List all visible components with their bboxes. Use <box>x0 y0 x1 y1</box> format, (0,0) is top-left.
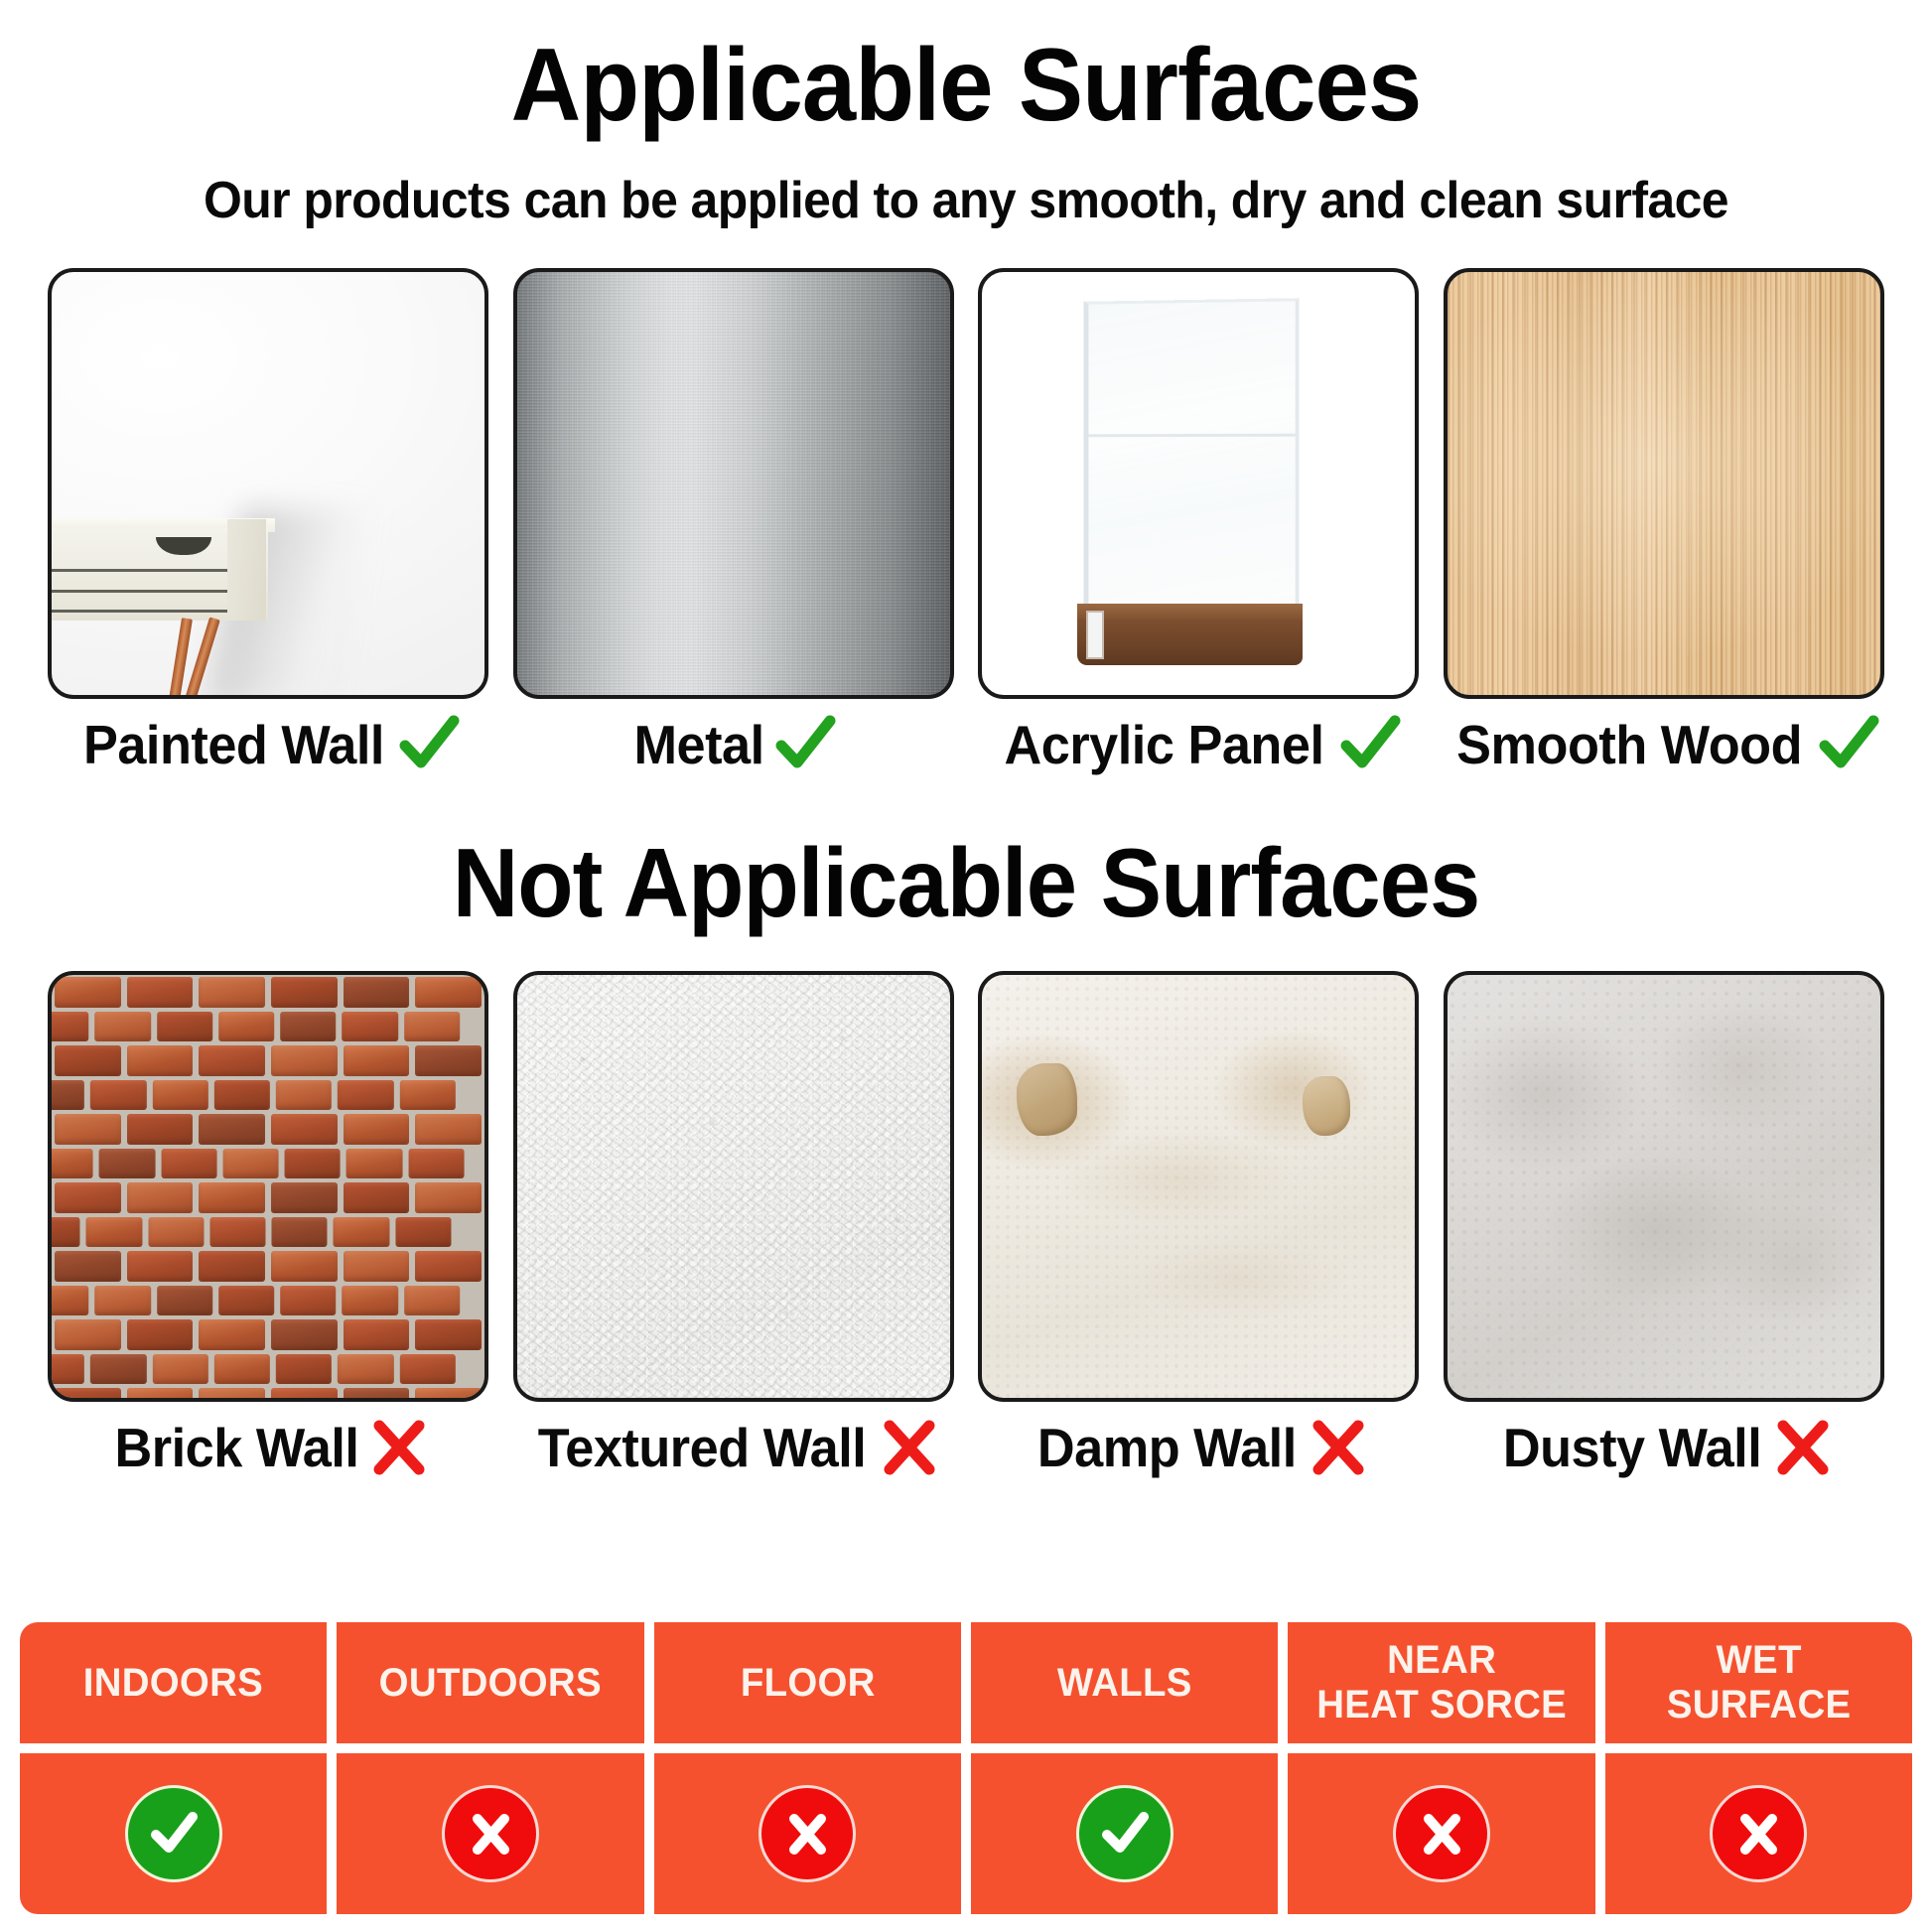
damp-wall-label-group: Damp Wall <box>1031 1416 1367 1479</box>
surface-label: Dusty Wall <box>1503 1416 1761 1479</box>
usage-matrix-status-row <box>20 1753 1912 1914</box>
wooden-base <box>1077 604 1303 665</box>
desk-side-panel <box>227 519 266 621</box>
matrix-status-wet-surface[interactable] <box>1605 1753 1912 1914</box>
painted-wall-image <box>48 268 488 699</box>
surface-tile-textured-wall[interactable]: Textured Wall <box>513 971 954 1479</box>
matrix-header-walls[interactable]: WALLS <box>971 1622 1278 1743</box>
matrix-header-wet-surface[interactable]: WET SURFACE <box>1605 1622 1912 1743</box>
metal-sheen-overlay <box>517 272 950 695</box>
textured-wall-image <box>513 971 954 1402</box>
green-check-icon <box>1817 713 1880 776</box>
red-cross-icon <box>881 1419 938 1476</box>
surface-tile-brick-wall[interactable]: Brick Wall <box>48 971 488 1479</box>
applicable-surfaces-row: Painted Wall Metal <box>0 268 1932 776</box>
matrix-header-label: NEAR HEAT SORCE <box>1316 1638 1567 1727</box>
brick-wall-label-group: Brick Wall <box>108 1416 429 1479</box>
matrix-header-indoors[interactable]: INDOORS <box>20 1622 327 1743</box>
cross-badge-icon <box>1713 1788 1804 1879</box>
usage-matrix-header-row: INDOORS OUTDOORS FLOOR WALLS NEAR HEAT S… <box>20 1622 1912 1743</box>
smooth-wood-image <box>1444 268 1884 699</box>
surface-label: Brick Wall <box>114 1416 358 1479</box>
matrix-header-near-heat-sorce[interactable]: NEAR HEAT SORCE <box>1288 1622 1594 1743</box>
cross-badge-icon <box>445 1788 536 1879</box>
surface-tile-acrylic-panel[interactable]: Acrylic Panel <box>978 268 1419 776</box>
surface-label: Painted Wall <box>82 713 383 776</box>
check-badge-icon <box>1079 1788 1171 1879</box>
matrix-header-label: WALLS <box>1057 1661 1192 1706</box>
dusty-wall-label-group: Dusty Wall <box>1496 1416 1832 1479</box>
peeling-paint-patch <box>1017 1063 1077 1135</box>
brick-wall-image <box>48 971 488 1402</box>
matrix-header-outdoors[interactable]: OUTDOORS <box>337 1622 643 1743</box>
matrix-header-label: FLOOR <box>740 1661 875 1706</box>
matrix-status-outdoors[interactable] <box>337 1753 643 1914</box>
painted-wall-label-group: Painted Wall <box>75 713 462 776</box>
red-cross-icon <box>1774 1419 1832 1476</box>
metal-label-group: Metal <box>630 713 837 776</box>
matrix-header-floor[interactable]: FLOOR <box>654 1622 961 1743</box>
damp-wall-image <box>978 971 1419 1402</box>
matrix-status-walls[interactable] <box>971 1753 1278 1914</box>
surface-label: Acrylic Panel <box>1004 713 1323 776</box>
metal-image <box>513 268 954 699</box>
textured-wall-label-group: Textured Wall <box>529 1416 938 1479</box>
green-check-icon <box>397 713 461 776</box>
check-badge-icon <box>128 1788 219 1879</box>
red-cross-icon <box>370 1419 428 1476</box>
acrylic-panel-label-group: Acrylic Panel <box>996 713 1402 776</box>
page-subtitle: Our products can be applied to any smoot… <box>39 137 1893 226</box>
matrix-header-label: WET SURFACE <box>1667 1638 1852 1727</box>
peeling-paint-patch-secondary <box>1303 1076 1350 1136</box>
matrix-status-near-heat-sorce[interactable] <box>1288 1753 1594 1914</box>
green-check-icon <box>1338 713 1402 776</box>
cross-badge-icon <box>761 1788 853 1879</box>
infographic-page: Applicable Surfaces Our products can be … <box>0 0 1932 1932</box>
surface-tile-damp-wall[interactable]: Damp Wall <box>978 971 1419 1479</box>
green-check-icon <box>773 713 837 776</box>
matrix-header-label: OUTDOORS <box>379 1661 602 1706</box>
surface-tile-painted-wall[interactable]: Painted Wall <box>48 268 488 776</box>
matrix-status-indoors[interactable] <box>20 1753 327 1914</box>
matrix-status-floor[interactable] <box>654 1753 961 1914</box>
surface-tile-smooth-wood[interactable]: Smooth Wood <box>1444 268 1884 776</box>
not-applicable-surfaces-row: Brick Wall Textured Wall Da <box>0 971 1932 1479</box>
wood-sheen-overlay <box>1448 272 1880 695</box>
dusty-wall-image <box>1444 971 1884 1402</box>
page-title: Applicable Surfaces <box>58 0 1873 137</box>
surface-tile-metal[interactable]: Metal <box>513 268 954 776</box>
section-title-not-applicable: Not Applicable Surfaces <box>58 834 1873 931</box>
cross-badge-icon <box>1396 1788 1487 1879</box>
acrylic-sheet <box>1083 298 1299 631</box>
surface-label: Textured Wall <box>537 1416 866 1479</box>
acrylic-panel-image <box>978 268 1419 699</box>
surface-label: Metal <box>633 713 763 776</box>
smooth-wood-label-group: Smooth Wood <box>1448 713 1880 776</box>
surface-tile-dusty-wall[interactable]: Dusty Wall <box>1444 971 1884 1479</box>
surface-label: Smooth Wood <box>1456 713 1802 776</box>
surface-label: Damp Wall <box>1037 1416 1297 1479</box>
red-cross-icon <box>1310 1419 1367 1476</box>
matrix-header-label: INDOORS <box>83 1661 263 1706</box>
usage-matrix: INDOORS OUTDOORS FLOOR WALLS NEAR HEAT S… <box>20 1622 1912 1914</box>
